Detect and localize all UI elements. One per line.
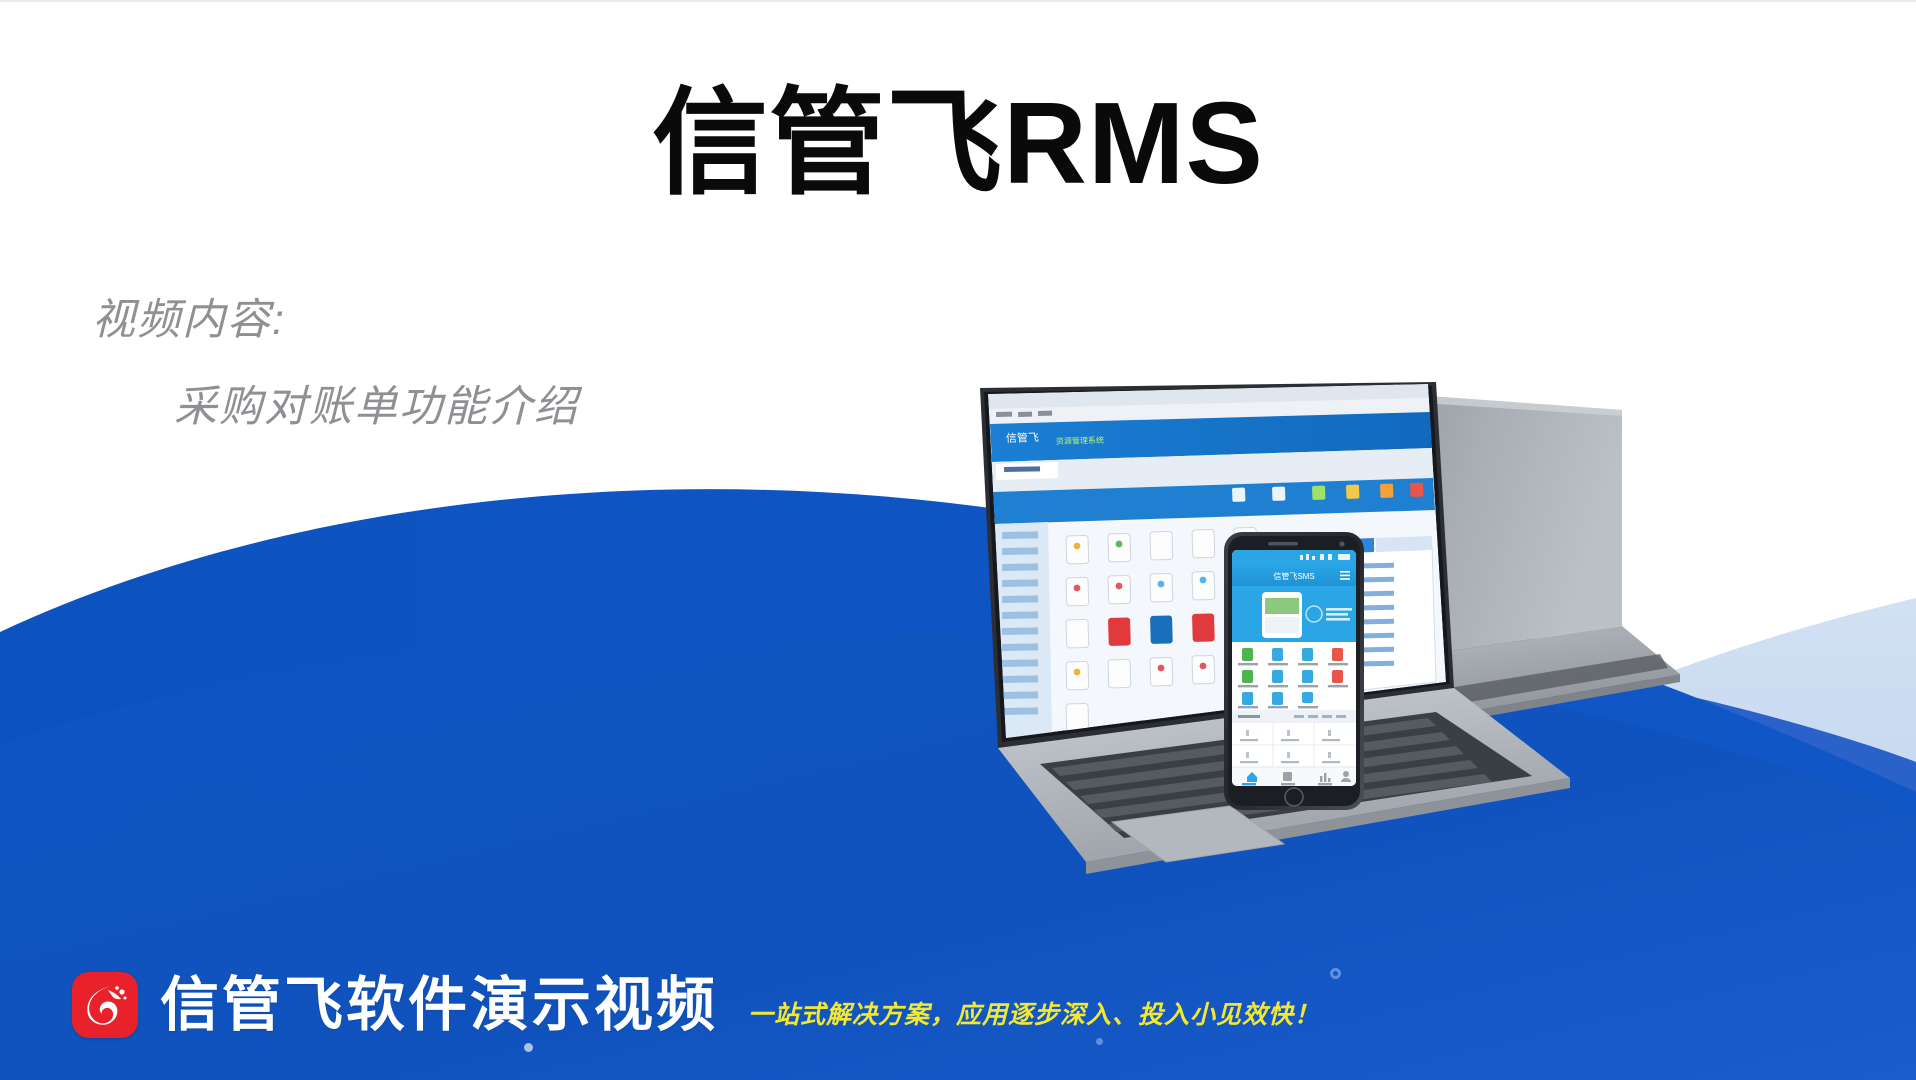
- brand-tagline-text: 一站式解决方案，应用逐步深入、投入小见效快！: [748, 995, 1320, 1031]
- video-content-label: 视频内容:: [92, 288, 579, 353]
- device-showcase-image: 信管飞 资源管理系统: [880, 382, 1916, 942]
- phone-app-screen: 信管飞SMS: [1232, 550, 1356, 786]
- presentation-slide: 信管飞RMS 视频内容: 采购对账单功能介绍: [0, 0, 1916, 1080]
- slide-title: 信管飞RMS: [0, 80, 1916, 208]
- xinguanfei-bird-logo-icon: [72, 972, 138, 1038]
- laptop-screen-content: 信管飞 资源管理系统: [988, 384, 1446, 742]
- svg-text:信管飞SMS: 信管飞SMS: [1273, 571, 1314, 581]
- brand-name-text: 信管飞软件演示视频: [160, 976, 718, 1035]
- svg-text:资源管理系统: 资源管理系统: [1056, 435, 1104, 446]
- video-content-block: 视频内容: 采购对账单功能介绍: [92, 288, 579, 439]
- bottom-brand-banner: 信管飞软件演示视频 一站式解决方案，应用逐步深入、投入小见效快！: [0, 930, 1916, 1080]
- hamburger-menu-icon: [1340, 571, 1350, 580]
- video-content-topic: 采购对账单功能介绍: [92, 375, 579, 440]
- svg-text:信管飞: 信管飞: [1006, 430, 1039, 445]
- smartphone-front: 信管飞SMS: [1224, 532, 1364, 810]
